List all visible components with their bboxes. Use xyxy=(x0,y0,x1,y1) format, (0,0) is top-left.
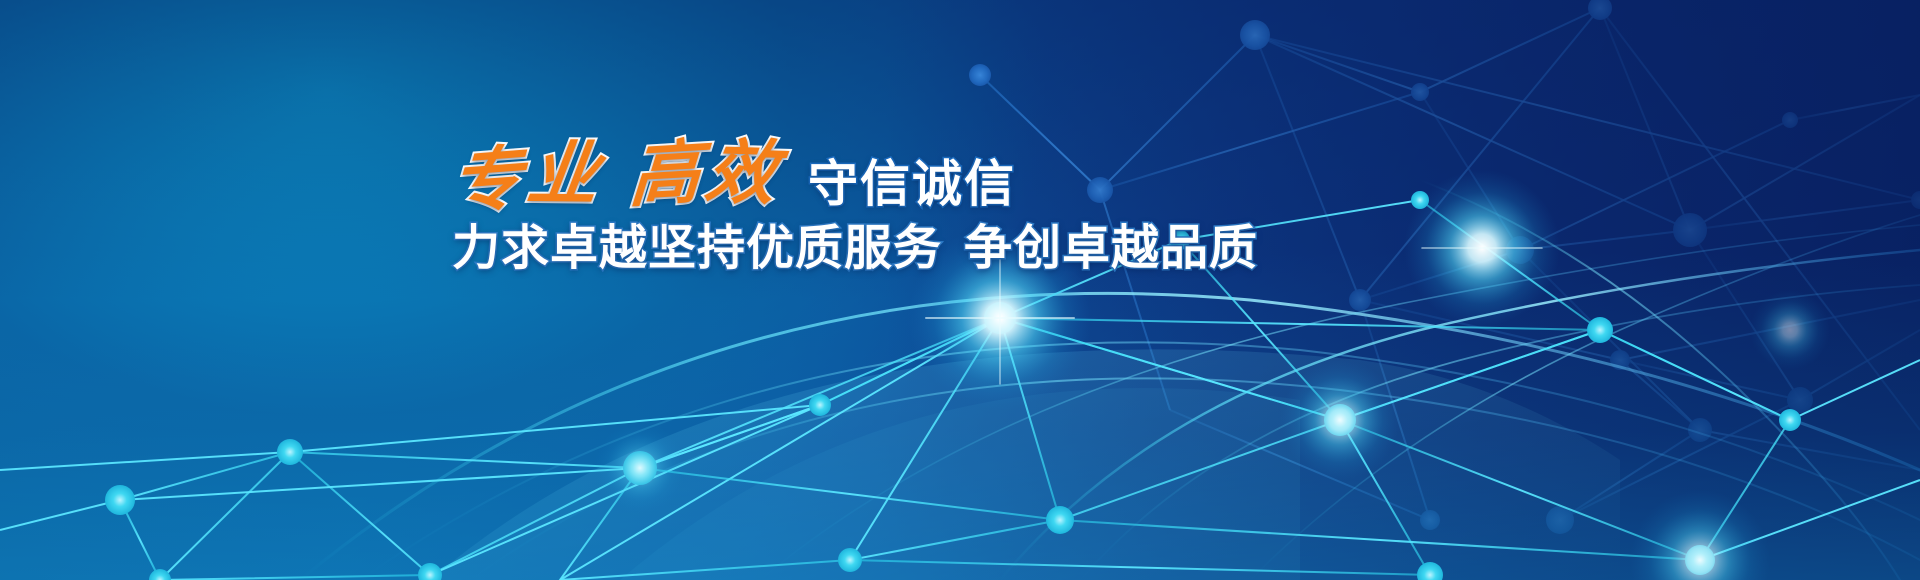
accent-headline: 专业高效 xyxy=(448,138,786,216)
subheadline-line-2: 力求卓越坚持优质服务争创卓越品质 xyxy=(452,224,1152,274)
headline-line-1: 专业高效 守信诚信 xyxy=(452,138,1152,212)
subheadline-part-2: 争创卓越品质 xyxy=(964,222,1258,275)
accent-word-gap xyxy=(602,199,628,200)
headline-plain-text: 守信诚信 xyxy=(808,159,1016,209)
network-graphic-lower xyxy=(0,0,1920,580)
subheadline-part-1: 力求卓越坚持优质服务 xyxy=(452,222,942,275)
headline-block: 专业高效 守信诚信 力求卓越坚持优质服务争创卓越品质 xyxy=(452,138,1152,274)
accent-char-1: 专 xyxy=(450,144,530,220)
accent-char-3: 高 xyxy=(628,139,709,213)
promo-banner: 专业高效 守信诚信 力求卓越坚持优质服务争创卓越品质 xyxy=(0,0,1920,580)
accent-char-2: 业 xyxy=(524,141,609,212)
accent-char-4: 效 xyxy=(701,139,787,211)
